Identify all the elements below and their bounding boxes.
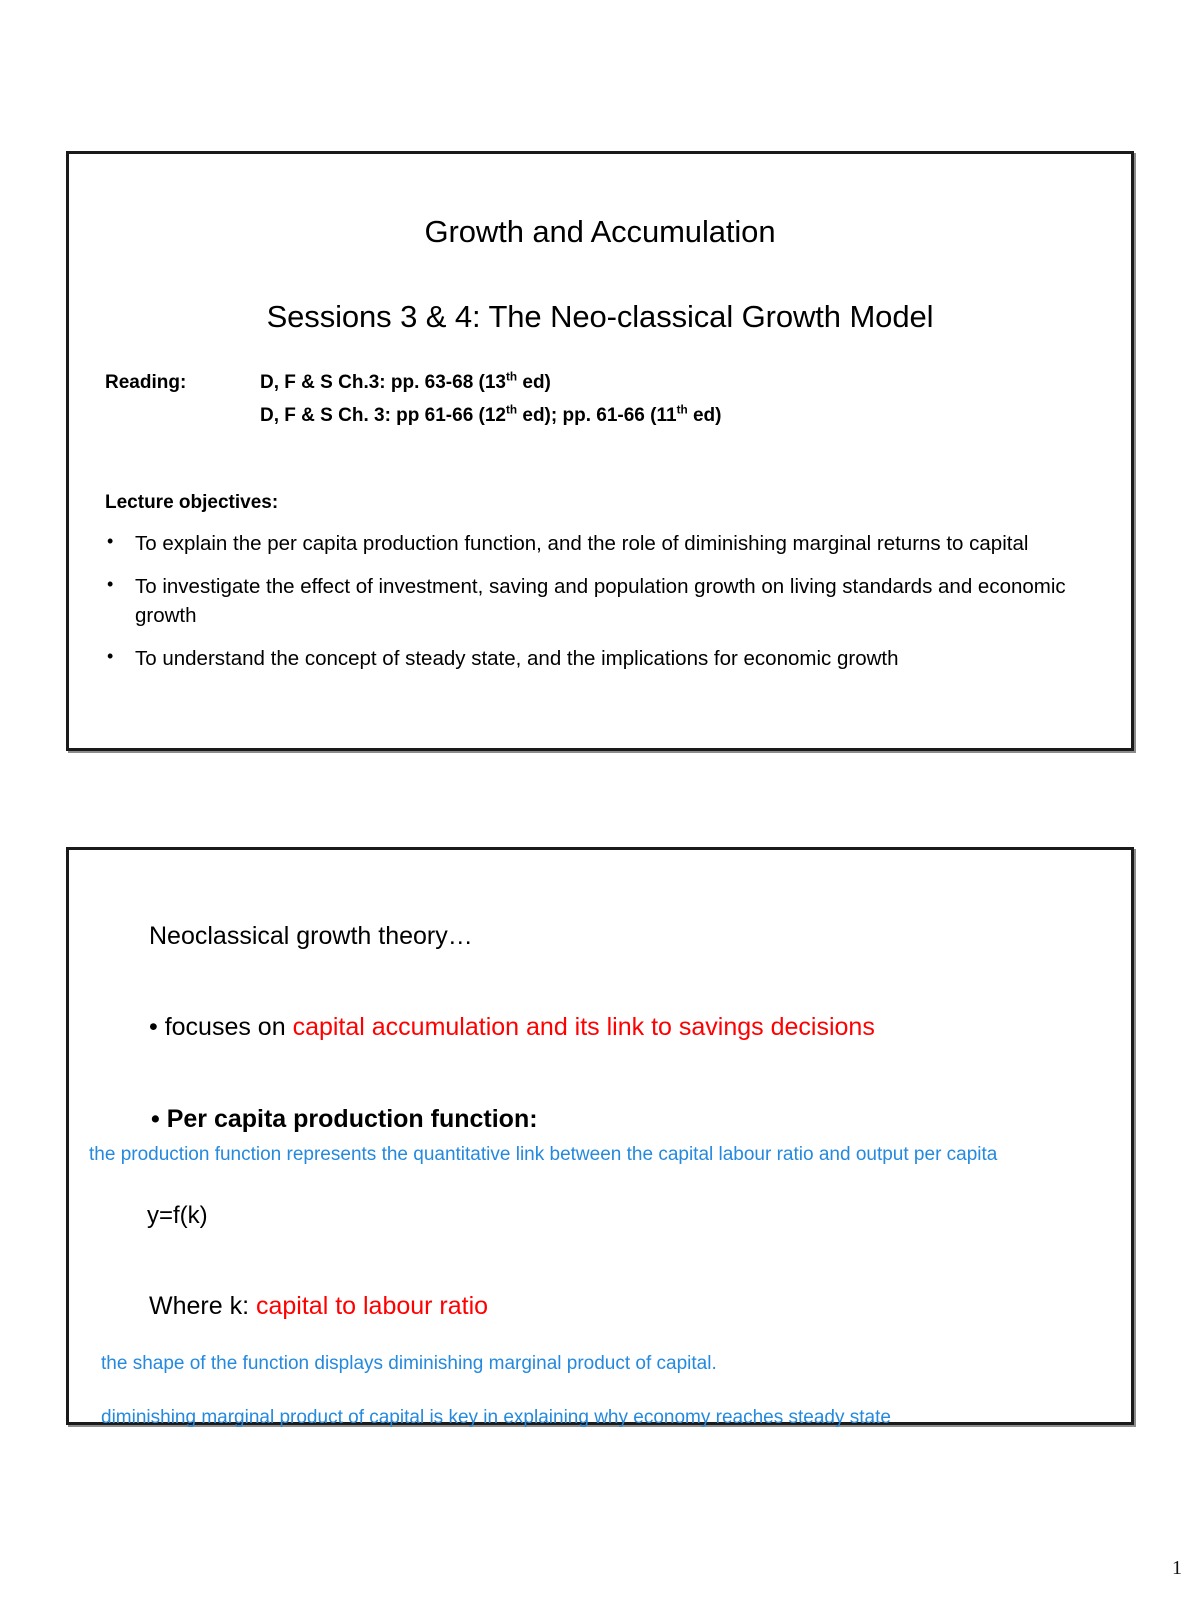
reading-line-2: D, F & S Ch. 3: pp 61-66 (12th ed); pp. … <box>260 405 721 427</box>
handout-page: Growth and Accumulation Sessions 3 & 4: … <box>0 0 1200 1600</box>
focus-bullet-line: • focuses on capital accumulation and it… <box>149 1013 875 1042</box>
reading-line-1-superscript: th <box>506 371 517 384</box>
where-k-label: Where k: <box>149 1292 256 1320</box>
objective-text: To investigate the effect of investment,… <box>135 572 1075 630</box>
slide-1-subtitle: Sessions 3 & 4: The Neo-classical Growth… <box>69 299 1131 335</box>
production-function-equation: y=f(k) <box>147 1202 208 1230</box>
slide-2[interactable]: Neoclassical growth theory… • focuses on… <box>66 847 1134 1425</box>
diminishing-product-note-2: diminishing marginal product of capital … <box>101 1407 891 1429</box>
reading-line-2-post2: ed) <box>688 405 722 426</box>
reading-line-1-post: ed) <box>517 372 551 393</box>
slide-2-content: Neoclassical growth theory… • focuses on… <box>69 850 1131 1422</box>
slide-1-title: Growth and Accumulation <box>69 214 1131 250</box>
slide-1-content: Growth and Accumulation Sessions 3 & 4: … <box>69 154 1131 748</box>
where-k-line: Where k: capital to labour ratio <box>149 1292 488 1321</box>
production-function-note: the production function represents the q… <box>89 1142 1099 1167</box>
list-item: • To investigate the effect of investmen… <box>103 572 1103 630</box>
reading-line-2-post: ed); pp. 61-66 (11 <box>517 405 676 426</box>
reading-row: Reading: D, F & S Ch.3: pp. 63-68 (13th … <box>105 372 1095 394</box>
bullet-icon: • <box>103 572 135 598</box>
reading-block: Reading: D, F & S Ch.3: pp. 63-68 (13th … <box>105 372 1095 438</box>
list-item: • To understand the concept of steady st… <box>103 644 1103 673</box>
reading-line-2-superscript-b: th <box>677 404 688 417</box>
reading-line-1-pre: D, F & S Ch.3: pp. 63-68 (13 <box>260 372 506 393</box>
reading-line-1: D, F & S Ch.3: pp. 63-68 (13th ed) <box>260 372 551 394</box>
objective-text: To understand the concept of steady stat… <box>135 644 899 673</box>
reading-label: Reading: <box>105 372 260 394</box>
neoclassical-growth-theory-heading: Neoclassical growth theory… <box>149 922 473 951</box>
lecture-objectives-list: • To explain the per capita production f… <box>103 529 1103 687</box>
focus-bullet-highlight: capital accumulation and its link to sav… <box>293 1013 875 1041</box>
lecture-objectives-heading: Lecture objectives: <box>105 492 278 514</box>
per-capita-production-function-heading: • Per capita production function: <box>151 1105 538 1134</box>
bullet-icon: • <box>103 529 135 555</box>
reading-line-2-superscript-a: th <box>506 404 517 417</box>
objective-text: To explain the per capita production fun… <box>135 529 1028 558</box>
focus-bullet-prefix: • focuses on <box>149 1013 293 1041</box>
list-item: • To explain the per capita production f… <box>103 529 1103 558</box>
reading-row: D, F & S Ch. 3: pp 61-66 (12th ed); pp. … <box>105 405 1095 427</box>
diminishing-product-note-1: the shape of the function displays dimin… <box>101 1353 717 1375</box>
bullet-icon: • <box>103 644 135 670</box>
page-number: 1 <box>1172 1557 1182 1580</box>
where-k-highlight: capital to labour ratio <box>256 1292 488 1320</box>
reading-line-2-pre: D, F & S Ch. 3: pp 61-66 (12 <box>260 405 506 426</box>
slide-1[interactable]: Growth and Accumulation Sessions 3 & 4: … <box>66 151 1134 751</box>
